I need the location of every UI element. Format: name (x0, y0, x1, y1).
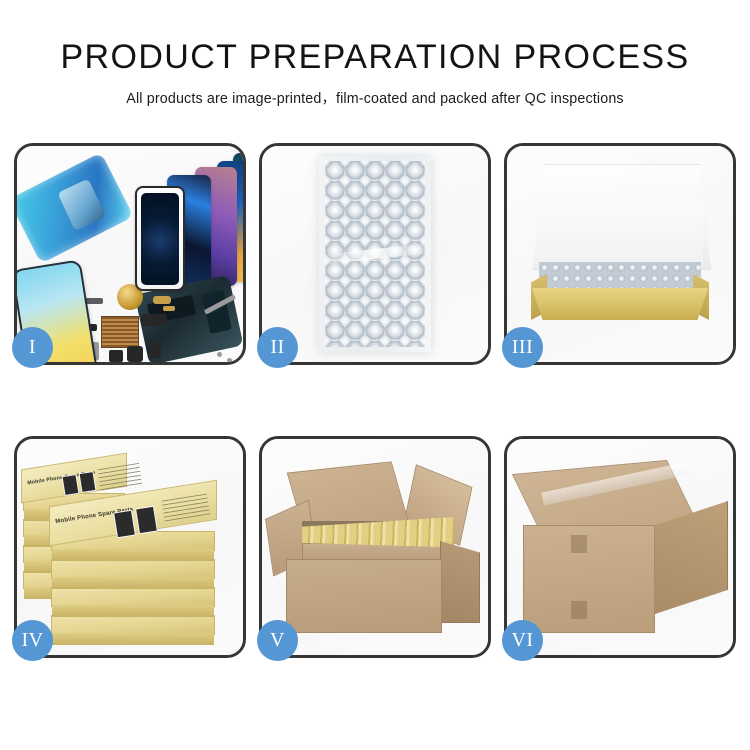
screw-part (227, 358, 232, 362)
retail-box-slab (51, 559, 215, 579)
connector-part (163, 306, 175, 311)
step-badge-5: V (257, 620, 298, 661)
step-badge-2: II (257, 327, 298, 368)
step-badge-3: III (502, 327, 543, 368)
carton-side-face (440, 541, 480, 623)
camera-module-part (109, 350, 123, 362)
carton-front-face (286, 559, 442, 633)
page-subtitle: All products are image-printed，film-coat… (0, 87, 750, 108)
panel-image-open-carton (262, 439, 488, 655)
panel-image-sealed-carton (507, 439, 733, 655)
carton-seam (571, 535, 587, 553)
process-steps-grid: I II III Mobile Pho (14, 143, 736, 680)
step-badge-6: VI (502, 620, 543, 661)
box-thumbnail (62, 474, 80, 496)
box-thumbnail (113, 510, 136, 539)
box-spec-lines (97, 463, 142, 493)
carton-front-face (523, 525, 655, 633)
panel-phone-screens-and-parts: I (14, 143, 246, 365)
panel-image-inner-box (507, 146, 733, 362)
step-badge-4: IV (12, 620, 53, 661)
bubble-wrapped-items (539, 262, 701, 290)
screen-film-icon (17, 152, 134, 263)
speaker-mesh-part (101, 316, 139, 348)
panel-inner-box-packing: III (504, 143, 736, 365)
panel-image-bubble-wrap (262, 146, 488, 362)
retail-box-slab (51, 615, 215, 635)
battery-connector-part (149, 342, 161, 358)
retail-box-slab (51, 587, 215, 607)
panel-image-phone-screens (17, 146, 243, 362)
carton-seam (571, 601, 587, 619)
speaker-part (127, 346, 143, 362)
page-header: PRODUCT PREPARATION PROCESS All products… (0, 0, 750, 108)
panel-sealed-carton: VI (504, 436, 736, 658)
foam-sheet (539, 202, 703, 268)
panel-open-carton: V (259, 436, 491, 658)
antenna-flex-part (141, 314, 167, 326)
screw-part (217, 352, 222, 357)
step-badge-1: I (12, 327, 53, 368)
panel-bubble-wrap: II (259, 143, 491, 365)
phone-glass-panel (135, 186, 185, 291)
box-thumbnail (135, 506, 158, 535)
box-front-wall (532, 288, 708, 320)
box-thumbnail (79, 471, 97, 493)
connector-part (153, 296, 171, 304)
page-title: PRODUCT PREPARATION PROCESS (0, 40, 750, 76)
panel-image-stacked-boxes: Mobile Phone Spare Parts Mobile Phone Sp… (17, 439, 243, 655)
panel-stacked-retail-boxes: Mobile Phone Spare Parts Mobile Phone Sp… (14, 436, 246, 658)
